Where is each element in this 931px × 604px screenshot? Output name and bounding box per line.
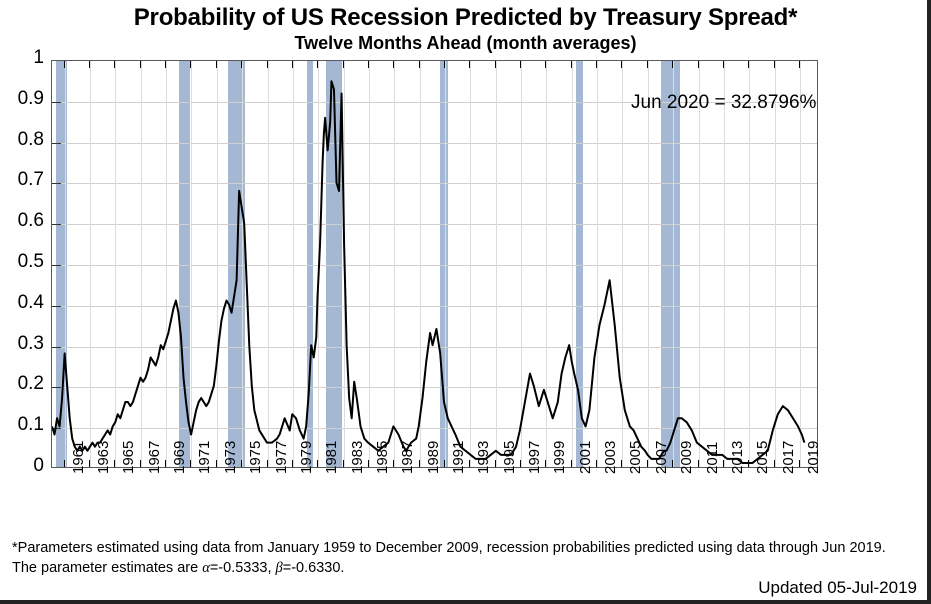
chart-subtitle: Twelve Months Ahead (month averages) bbox=[0, 33, 931, 54]
x-axis-tick bbox=[748, 460, 749, 467]
x-axis-label: 2009 bbox=[678, 441, 695, 474]
x-axis-tick bbox=[267, 460, 268, 467]
x-axis-tick bbox=[596, 460, 597, 467]
beta-symbol: β bbox=[276, 560, 283, 576]
bottom-edge-bar bbox=[0, 600, 931, 604]
x-axis-tick bbox=[571, 460, 572, 467]
x-axis-label: 1993 bbox=[475, 441, 492, 474]
x-axis-tick bbox=[723, 460, 724, 467]
x-axis-label: 1989 bbox=[425, 441, 442, 474]
x-axis-tick bbox=[748, 61, 749, 68]
x-axis-tick bbox=[444, 61, 445, 68]
x-axis-tick bbox=[419, 460, 420, 467]
x-axis-tick bbox=[292, 61, 293, 68]
x-axis-label: 1977 bbox=[273, 441, 290, 474]
x-axis-tick bbox=[469, 460, 470, 467]
x-axis-tick bbox=[647, 460, 648, 467]
right-edge-bar bbox=[927, 0, 931, 604]
x-axis-tick bbox=[520, 61, 521, 68]
x-axis-label: 1997 bbox=[526, 441, 543, 474]
x-axis-tick bbox=[672, 460, 673, 467]
x-axis-tick bbox=[419, 61, 420, 68]
x-axis-label: 2013 bbox=[729, 441, 746, 474]
x-axis-tick bbox=[190, 61, 191, 68]
alpha-symbol: α bbox=[202, 560, 210, 576]
y-axis-label: 0 bbox=[0, 455, 44, 477]
plot-area bbox=[51, 60, 818, 468]
y-axis-label: 0.7 bbox=[0, 169, 44, 191]
x-axis-label: 2011 bbox=[704, 442, 721, 474]
x-axis-tick bbox=[799, 460, 800, 467]
x-axis-label: 2005 bbox=[627, 441, 644, 474]
footnote-line-1: *Parameters estimated using data from Ja… bbox=[12, 538, 927, 558]
x-axis-label: 1973 bbox=[222, 441, 239, 474]
x-axis-tick bbox=[393, 460, 394, 467]
x-axis-tick bbox=[216, 460, 217, 467]
x-axis-label: 1967 bbox=[146, 441, 163, 474]
x-axis-label: 2003 bbox=[602, 441, 619, 474]
x-axis-tick bbox=[89, 460, 90, 467]
x-axis-tick bbox=[190, 460, 191, 467]
x-axis-tick bbox=[140, 460, 141, 467]
x-axis-tick bbox=[698, 61, 699, 68]
x-axis-tick bbox=[343, 61, 344, 68]
x-axis-tick bbox=[545, 61, 546, 68]
x-axis-label: 1987 bbox=[399, 441, 416, 474]
y-axis-label: 0.5 bbox=[0, 251, 44, 273]
x-axis-tick bbox=[469, 61, 470, 68]
x-axis-tick bbox=[495, 61, 496, 68]
footnote-line-2: The parameter estimates are α=-0.5333, β… bbox=[12, 558, 927, 578]
x-axis-label: 1979 bbox=[298, 441, 315, 474]
x-axis-tick bbox=[520, 460, 521, 467]
x-axis-label: 1995 bbox=[501, 441, 518, 474]
x-axis-label: 1981 bbox=[323, 441, 340, 474]
x-axis-tick bbox=[774, 61, 775, 68]
x-axis-tick bbox=[343, 460, 344, 467]
x-axis-tick bbox=[165, 460, 166, 467]
x-axis-tick bbox=[621, 460, 622, 467]
recession-probability-line bbox=[52, 61, 817, 467]
x-axis-label: 1975 bbox=[247, 441, 264, 474]
x-axis-label: 2019 bbox=[805, 441, 822, 474]
x-axis-label: 1991 bbox=[450, 441, 467, 474]
alpha-value: =-0.5333, bbox=[210, 560, 276, 576]
x-axis-tick bbox=[114, 61, 115, 68]
x-axis-tick bbox=[647, 61, 648, 68]
x-axis-tick bbox=[545, 460, 546, 467]
updated-date: Updated 05-Jul-2019 bbox=[0, 578, 917, 598]
footnote: *Parameters estimated using data from Ja… bbox=[12, 538, 927, 578]
x-axis-label: 1971 bbox=[196, 441, 213, 474]
x-axis-label: 1983 bbox=[349, 441, 366, 474]
x-axis-tick bbox=[621, 61, 622, 68]
x-axis-tick bbox=[292, 460, 293, 467]
y-axis-label: 0.2 bbox=[0, 373, 44, 395]
current-value-annotation: Jun 2020 = 32.8796% bbox=[631, 92, 816, 114]
x-axis-tick bbox=[698, 460, 699, 467]
y-axis-label: 0.4 bbox=[0, 292, 44, 314]
x-axis-tick bbox=[368, 460, 369, 467]
beta-value: =-0.6330. bbox=[283, 560, 345, 576]
x-axis-tick bbox=[216, 61, 217, 68]
x-axis-tick bbox=[89, 61, 90, 68]
x-axis-tick bbox=[393, 61, 394, 68]
x-axis-label: 1985 bbox=[374, 441, 391, 474]
x-axis-label: 2015 bbox=[754, 441, 771, 474]
y-axis-label: 0.9 bbox=[0, 88, 44, 110]
x-axis-label: 1969 bbox=[171, 441, 188, 474]
x-axis-tick bbox=[495, 460, 496, 467]
x-axis-label: 2017 bbox=[780, 441, 797, 474]
x-axis-tick bbox=[672, 61, 673, 68]
y-axis-label: 0.6 bbox=[0, 210, 44, 232]
y-axis-label: 0.1 bbox=[0, 414, 44, 436]
series-polyline bbox=[52, 81, 804, 463]
y-axis-label: 0.8 bbox=[0, 129, 44, 151]
y-axis-label: 0.3 bbox=[0, 333, 44, 355]
x-axis-tick bbox=[317, 460, 318, 467]
x-axis-label: 1965 bbox=[120, 441, 137, 474]
x-axis-tick bbox=[165, 61, 166, 68]
x-axis-tick bbox=[241, 61, 242, 68]
x-axis-label: 1999 bbox=[551, 441, 568, 474]
chart-title: Probability of US Recession Predicted by… bbox=[0, 4, 931, 32]
x-axis-tick bbox=[774, 460, 775, 467]
x-axis-tick bbox=[723, 61, 724, 68]
x-axis-tick bbox=[596, 61, 597, 68]
x-axis-label: 2001 bbox=[577, 441, 594, 474]
x-axis-tick bbox=[317, 61, 318, 68]
x-axis-tick bbox=[267, 61, 268, 68]
x-axis-tick bbox=[444, 460, 445, 467]
x-axis-label: 1961 bbox=[70, 441, 87, 474]
x-axis-tick bbox=[140, 61, 141, 68]
x-axis-tick bbox=[799, 61, 800, 68]
y-axis-label: 1 bbox=[0, 47, 44, 69]
x-axis-tick bbox=[64, 61, 65, 68]
x-axis-tick bbox=[368, 61, 369, 68]
x-axis-tick bbox=[571, 61, 572, 68]
x-axis-tick bbox=[114, 460, 115, 467]
x-axis-tick bbox=[64, 460, 65, 467]
x-axis-label: 1963 bbox=[95, 441, 112, 474]
x-axis-label: 2007 bbox=[653, 441, 670, 474]
footnote-lead: The parameter estimates are bbox=[12, 560, 202, 576]
x-axis-tick bbox=[241, 460, 242, 467]
